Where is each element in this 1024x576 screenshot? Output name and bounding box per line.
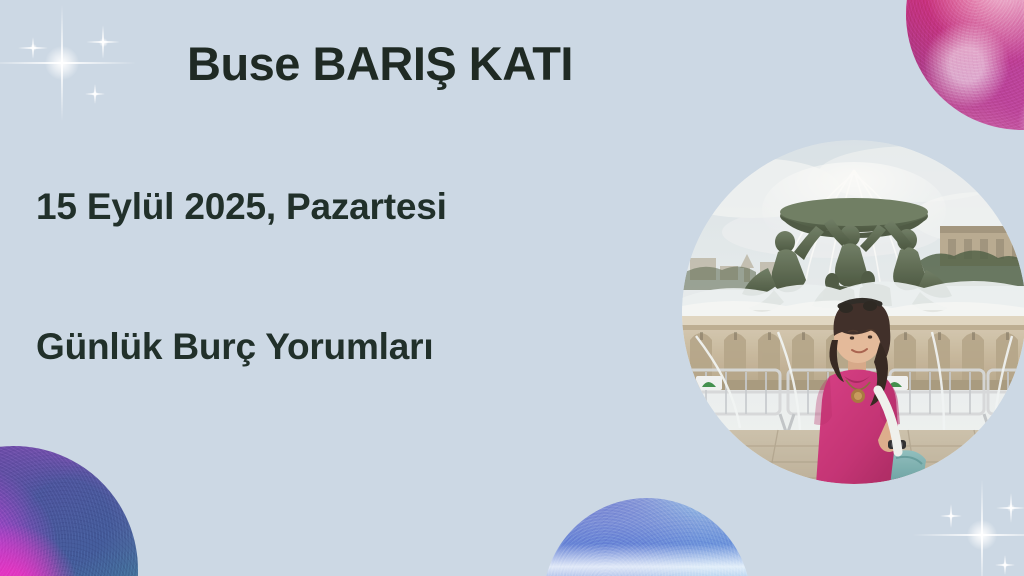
purple-galaxy-planet [0,446,138,576]
planet-grain-texture [0,446,138,576]
pink-watercolor-planet [906,0,1024,130]
slide-canvas: Buse BARIŞ KATI 15 Eylül 2025, Pazartesi… [0,0,1024,576]
planet-grain-texture [543,498,751,576]
page-title: Buse BARIŞ KATI [0,36,760,91]
date-line: 15 Eylül 2025, Pazartesi [36,186,447,228]
planet-grain-texture [906,0,1024,130]
portrait-illustration [682,140,1024,484]
sparkle-cluster-bottom-right [930,486,1024,576]
blue-watercolor-planet [543,498,751,576]
subtitle: Günlük Burç Yorumları [36,326,433,368]
portrait-photo [682,140,1024,484]
